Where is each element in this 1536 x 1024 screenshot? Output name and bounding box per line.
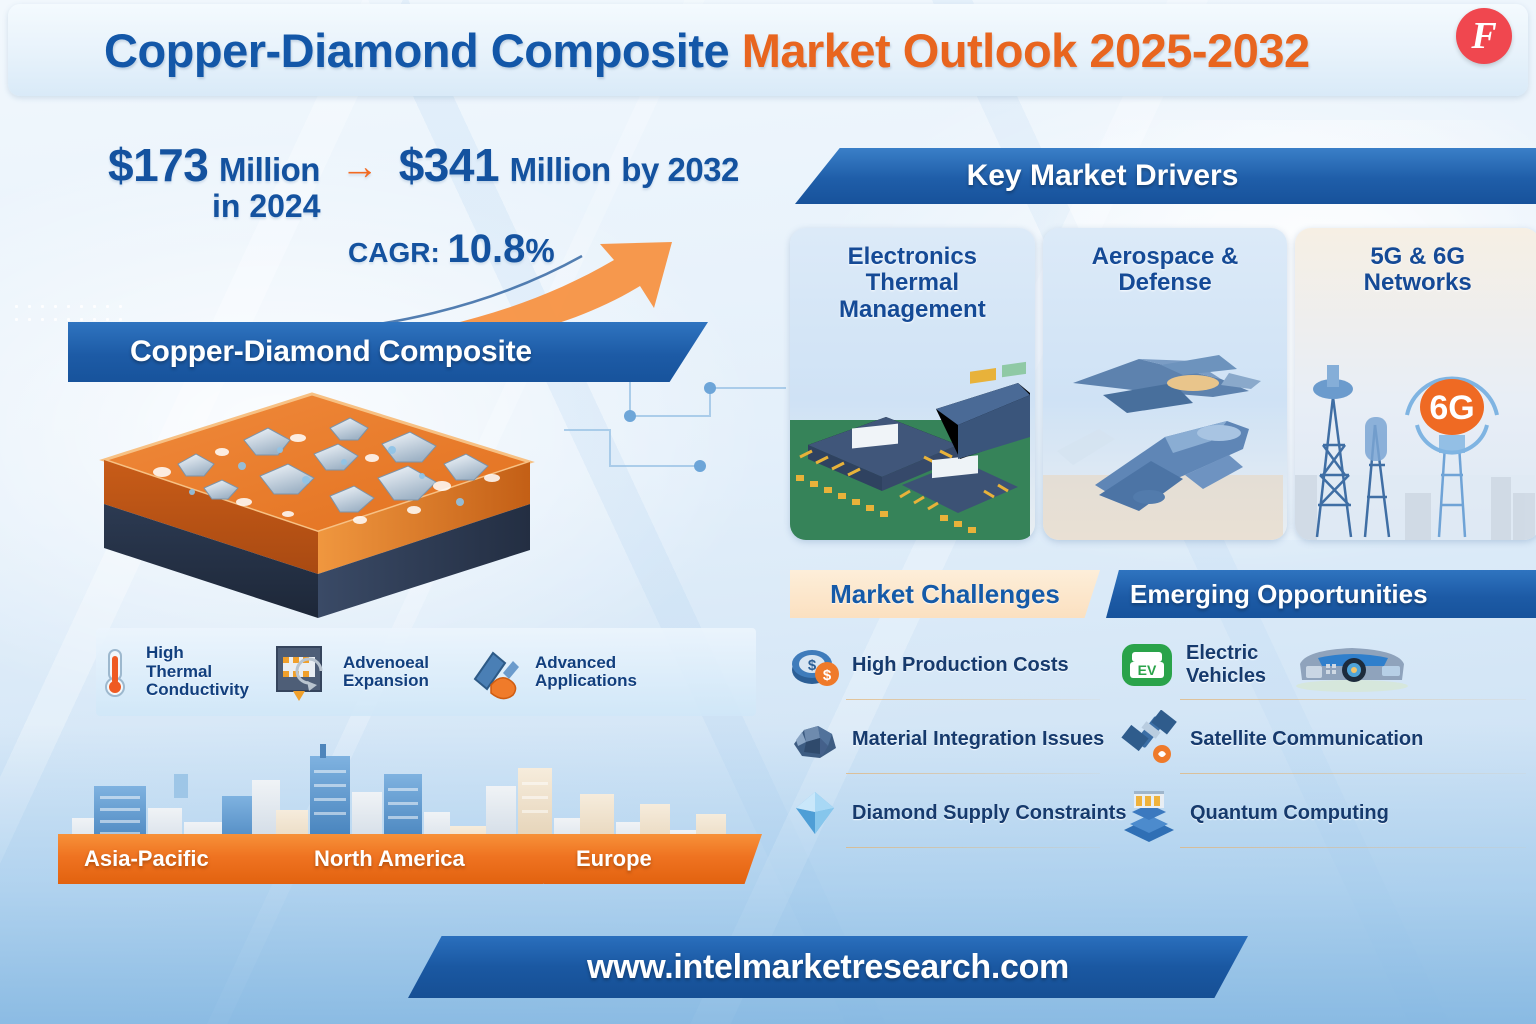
svg-text:$: $ xyxy=(823,667,832,684)
product-banner-label: Copper-Diamond Composite xyxy=(130,335,532,369)
raw-material-rock-icon xyxy=(790,714,840,764)
driver-title-line2: Defense xyxy=(1043,270,1288,296)
feature-item-thermal-conductivity: High Thermal Conductivity xyxy=(92,644,249,700)
feature-label-line3: Conductivity xyxy=(146,681,249,699)
product-banner: Copper-Diamond Composite xyxy=(68,322,708,382)
feature-item-expansion: Advenoeal Expansion xyxy=(273,641,429,703)
value-2024: $173 xyxy=(108,139,208,191)
value-2032: $341 xyxy=(399,139,499,191)
list-item[interactable]: Diamond Supply Constraints xyxy=(790,776,1110,850)
feature-label-line2: Thermal xyxy=(146,663,249,681)
electric-car-icon xyxy=(1292,638,1412,692)
list-item[interactable]: $ $ High Production Costs xyxy=(790,628,1110,702)
feature-label-line1: Advanced xyxy=(535,654,637,672)
feature-label: Advenoeal Expansion xyxy=(343,654,429,691)
ev-battery-icon: EV xyxy=(1120,638,1174,692)
feature-label: Advanced Applications xyxy=(535,654,637,691)
infographic-root: Copper-Diamond Composite Market Outlook … xyxy=(0,0,1536,1024)
driver-title-line1: 5G & 6G xyxy=(1295,244,1536,270)
page-title-primary: Copper-Diamond Composite xyxy=(104,24,729,77)
market-challenges-list: $ $ High Production Costs Material Integ… xyxy=(790,628,1110,850)
region-label: Europe xyxy=(576,846,652,872)
region-chip-north-america[interactable]: North America xyxy=(286,834,566,884)
list-item[interactable]: Material Integration Issues xyxy=(790,702,1110,776)
tool-gloves-icon xyxy=(469,643,527,701)
value-2032-unit: Million xyxy=(510,151,611,188)
circuit-board-chips-art xyxy=(790,325,1030,540)
quantum-processor-icon xyxy=(1120,784,1178,842)
market-challenges-banner: Market Challenges xyxy=(790,570,1100,618)
region-chip-asia-pacific[interactable]: Asia-Pacific xyxy=(58,834,308,884)
page-title: Copper-Diamond Composite Market Outlook … xyxy=(104,23,1310,78)
list-item-label-line1: Electric xyxy=(1186,642,1258,664)
circuit-traces-icon xyxy=(560,370,790,490)
brand-f-logo-icon: F xyxy=(1456,8,1512,64)
aircraft-jet-art xyxy=(1043,325,1283,540)
chip-module-icon xyxy=(273,641,335,703)
list-item-label: Material Integration Issues xyxy=(852,728,1104,751)
driver-card-electronics-thermal-management[interactable]: Electronics Thermal Management xyxy=(790,228,1035,540)
region-row: Asia-Pacific North America Europe xyxy=(58,834,778,888)
header-bar: Copper-Diamond Composite Market Outlook … xyxy=(8,4,1528,96)
satellite-icon xyxy=(1120,710,1178,768)
value-2024-year: in 2024 xyxy=(212,188,808,225)
value-2024-unit: Million xyxy=(219,151,320,188)
feature-item-advanced-applications: Advanced Applications xyxy=(469,643,637,701)
svg-text:EV: EV xyxy=(1138,662,1157,678)
driver-title-line2: Networks xyxy=(1295,270,1536,296)
list-item[interactable]: Satellite Communication xyxy=(1120,702,1536,776)
driver-card-title: 5G & 6G Networks xyxy=(1295,228,1536,297)
key-market-drivers-banner: Key Market Drivers xyxy=(795,148,1536,204)
thermometer-icon xyxy=(92,644,138,700)
driver-title-line1: Electronics xyxy=(790,244,1035,270)
list-item-label: Electric Vehicles xyxy=(1186,642,1266,688)
driver-title-line3: Management xyxy=(790,297,1035,323)
emerging-opportunities-list: EV Electric Vehicles xyxy=(1120,628,1536,850)
list-item-label: Satellite Communication xyxy=(1190,728,1423,751)
driver-card-5g-6g-networks[interactable]: 5G & 6G Networks xyxy=(1295,228,1536,540)
diamond-gem-icon xyxy=(790,788,840,838)
driver-title-line1: Aerospace & xyxy=(1043,244,1288,270)
feature-label-line1: High xyxy=(146,644,249,662)
value-2032-suffix: by 2032 xyxy=(621,151,739,188)
growth-arrow-icon: → xyxy=(331,146,389,188)
driver-title-line2: Thermal xyxy=(790,270,1035,296)
market-challenges-label: Market Challenges xyxy=(830,579,1060,610)
6g-badge-label: 6G xyxy=(1430,389,1475,427)
footer-bar[interactable]: www.intelmarketresearch.com xyxy=(408,936,1248,998)
emerging-opportunities-label: Emerging Opportunities xyxy=(1130,579,1428,610)
list-item[interactable]: EV Electric Vehicles xyxy=(1120,628,1536,702)
feature-label: High Thermal Conductivity xyxy=(146,644,249,699)
list-item-label-line2: Vehicles xyxy=(1186,665,1266,687)
list-item-label: High Production Costs xyxy=(852,654,1069,677)
copper-diamond-composite-block-icon xyxy=(92,392,542,622)
market-value-headline: $173 Million → $341 Million by 2032 xyxy=(108,138,808,192)
region-label: Asia-Pacific xyxy=(84,846,209,872)
feature-label-line2: Applications xyxy=(535,672,637,690)
driver-card-title: Electronics Thermal Management xyxy=(790,228,1035,323)
list-item[interactable]: Quantum Computing xyxy=(1120,776,1536,850)
region-label: North America xyxy=(314,846,465,872)
list-item-label: Diamond Supply Constraints xyxy=(852,802,1126,825)
driver-card-aerospace-defense[interactable]: Aerospace & Defense xyxy=(1043,228,1288,540)
feature-label-line1: Advenoeal xyxy=(343,654,429,672)
feature-row: High Thermal Conductivity Advenoeal xyxy=(0,622,760,722)
feature-label-line2: Expansion xyxy=(343,672,429,690)
telecom-towers-art: 6G xyxy=(1295,325,1535,540)
key-market-drivers-label: Key Market Drivers xyxy=(967,159,1239,193)
website-url: www.intelmarketresearch.com xyxy=(587,948,1069,987)
emerging-opportunities-banner: Emerging Opportunities xyxy=(1106,570,1536,618)
region-chip-europe[interactable]: Europe xyxy=(544,834,762,884)
page-title-secondary: Market Outlook 2025-2032 xyxy=(742,24,1310,77)
money-coins-icon: $ $ xyxy=(790,640,840,690)
list-item-label: Quantum Computing xyxy=(1190,802,1389,825)
driver-card-title: Aerospace & Defense xyxy=(1043,228,1288,297)
driver-card-row: Electronics Thermal Management xyxy=(790,228,1536,540)
